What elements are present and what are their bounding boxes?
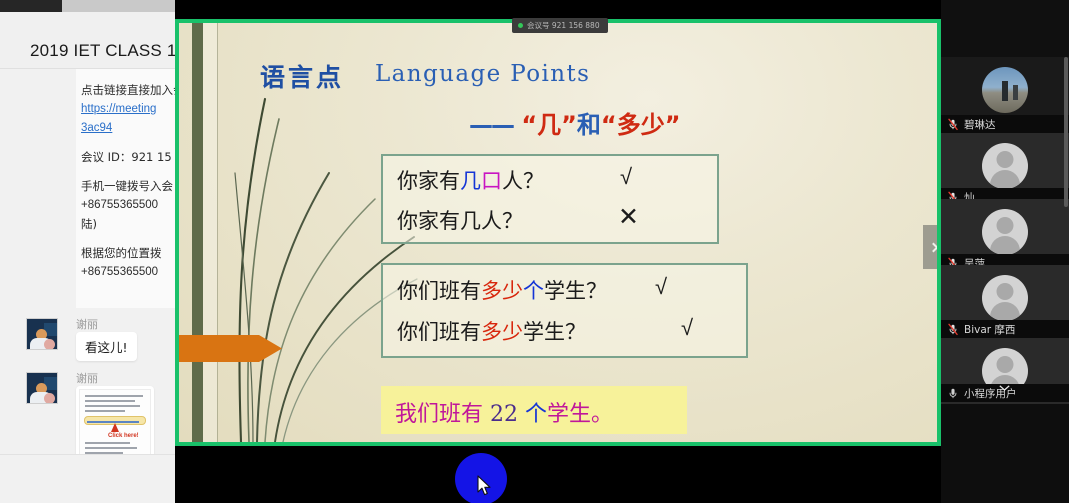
subtitle-conjunction: 和: [577, 111, 601, 139]
example-1-line-1-mark: √: [620, 164, 632, 190]
meeting-link-line-1[interactable]: https://meeting: [81, 100, 175, 119]
sysmsg-invite-line: 点击链接直接加入会议：: [81, 81, 175, 100]
page-title: 语言点: [260, 58, 344, 94]
subtitle-open-quote-2: “: [601, 111, 617, 139]
example-2-line-2: 你们班有多少学生？: [397, 316, 586, 346]
image-callout-text: Click here!: [108, 433, 139, 439]
app-root: 2019 IET CLASS 1 点击链接直接加入会议： https://mee…: [0, 0, 1069, 503]
location-dial-heading: 根据您的位置拨: [81, 244, 175, 263]
participant-strip-header: [941, 0, 1069, 57]
avatar: [982, 143, 1028, 189]
subtitle-dash: ——: [469, 111, 513, 139]
example-2-line-1-suffix: 学生？: [544, 279, 607, 303]
example-2-highlight-duoshao-1: 多少: [481, 279, 523, 303]
answer-number: 22: [490, 402, 518, 427]
answer-measure-word: 个: [525, 402, 547, 427]
example-1-line-1-suffix: 人？: [502, 169, 544, 193]
mouse-cursor: [477, 475, 493, 497]
participant-name-bar: Bivar 摩西: [941, 320, 1069, 338]
slide-subtitle: —— “几”和“多少”: [469, 105, 680, 140]
participant-name-bar: 碧琳达: [941, 115, 1069, 133]
screen-share-frame: 语言点 Language Points —— “几”和“多少” 你家有几口人？ …: [175, 19, 941, 446]
avatar: [26, 372, 58, 404]
system-message: 点击链接直接加入会议： https://meeting 3ac94 会议 ID：…: [76, 69, 175, 308]
collapse-panel-button[interactable]: [923, 225, 937, 269]
orange-arrow-shape: [179, 332, 282, 365]
image-thumbnail: Click here!: [79, 389, 151, 454]
phone-number-1: +86755365500: [81, 196, 175, 215]
meeting-link-line-2[interactable]: 3ac94: [81, 119, 175, 138]
message-image-attachment[interactable]: Click here!: [76, 386, 154, 454]
subtitle-close-quote-2: ”: [665, 111, 681, 139]
example-2-line-2-suffix: 学生？: [523, 320, 586, 344]
sysmsg-spacer-3: [81, 234, 175, 244]
avatar: [982, 275, 1028, 321]
mic-muted-icon: [947, 118, 959, 131]
shared-screen-stage: 会议号 921 156 880: [175, 0, 941, 503]
example-1-line-2-mark: ✕: [618, 202, 639, 232]
participant-name: 碧琳达: [964, 117, 996, 132]
answer-highlight-box: 我们班有 22 个学生。: [381, 386, 687, 434]
avatar: [982, 67, 1028, 113]
answer-prefix: 我们班有: [395, 402, 483, 427]
example-1-line-1-prefix: 你家有: [397, 169, 460, 193]
participant-video-strip[interactable]: 碧琳达 灿: [941, 0, 1069, 503]
chat-panel: 2019 IET CLASS 1 点击链接直接加入会议： https://mee…: [0, 0, 175, 503]
presentation-slide[interactable]: 语言点 Language Points —— “几”和“多少” 你家有几口人？ …: [179, 23, 937, 442]
page-title-english: Language Points: [375, 61, 590, 87]
mic-icon: [947, 387, 959, 400]
chat-message-list[interactable]: 点击链接直接加入会议： https://meeting 3ac94 会议 ID：…: [0, 69, 175, 454]
message-sender: 谢丽: [76, 316, 98, 332]
example-2-line-2-prefix: 你们班有: [397, 320, 481, 344]
example-2-line-2-mark: √: [681, 315, 693, 341]
example-1-line-1: 你家有几口人？: [397, 165, 544, 195]
subtitle-word-1: 几: [537, 111, 561, 139]
stage-bottom-bar: [175, 446, 941, 503]
window-tab-bar[interactable]: [0, 0, 175, 12]
example-2-line-1: 你们班有多少个学生？: [397, 275, 607, 305]
meeting-id-banner[interactable]: 会议号 921 156 880: [512, 18, 608, 33]
example-1-highlight-ji: 几: [460, 169, 481, 193]
example-2-highlight-ge: 个: [523, 279, 544, 303]
example-2-line-1-mark: √: [655, 274, 667, 300]
participant-scrollbar[interactable]: [1064, 57, 1068, 207]
mic-muted-icon: [947, 323, 959, 336]
chat-title-bar: 2019 IET CLASS 1: [0, 12, 175, 69]
phone-number-2: +86755365500: [81, 263, 175, 282]
chat-window-title: 2019 IET CLASS 1: [30, 41, 175, 61]
answer-suffix: 学生。: [547, 402, 613, 427]
example-1-line-2: 你家有几人？: [397, 205, 523, 235]
example-box-2: 你们班有多少个学生？ √ 你们班有多少学生？ √: [381, 263, 748, 358]
chevron-right-icon: [928, 242, 937, 252]
meeting-id-line: 会议 ID：921 15: [81, 148, 175, 167]
avatar: [982, 209, 1028, 255]
recording-status-dot: [518, 23, 523, 28]
sysmsg-spacer-1: [81, 138, 175, 148]
sysmsg-spacer-2: [81, 167, 175, 177]
phone-number-1-cont: 陆): [81, 215, 175, 234]
example-2-highlight-duoshao-2: 多少: [481, 320, 523, 344]
message-bubble[interactable]: 看这儿!: [76, 332, 137, 361]
chevron-down-icon[interactable]: [999, 385, 1010, 391]
example-2-line-1-prefix: 你们班有: [397, 279, 481, 303]
participant-tile[interactable]: [941, 57, 1069, 123]
phone-dial-heading: 手机一键拨号入会: [81, 177, 175, 196]
subtitle-word-2: 多少: [617, 111, 665, 139]
meeting-id-text: 会议号 921 156 880: [527, 20, 600, 31]
subtitle-open-quote-1: “: [521, 111, 537, 139]
subtitle-close-quote-1: ”: [561, 111, 577, 139]
chat-toolbar: [0, 454, 175, 503]
message-sender: 谢丽: [76, 370, 98, 386]
example-box-1: 你家有几口人？ √ 你家有几人？ ✕: [381, 154, 719, 244]
participant-name: Bivar 摩西: [964, 322, 1015, 337]
answer-sentence: 我们班有 22 个学生。: [395, 396, 613, 428]
avatar: [26, 318, 58, 350]
example-1-highlight-kou: 口: [481, 169, 502, 193]
tab-active[interactable]: [0, 0, 62, 12]
